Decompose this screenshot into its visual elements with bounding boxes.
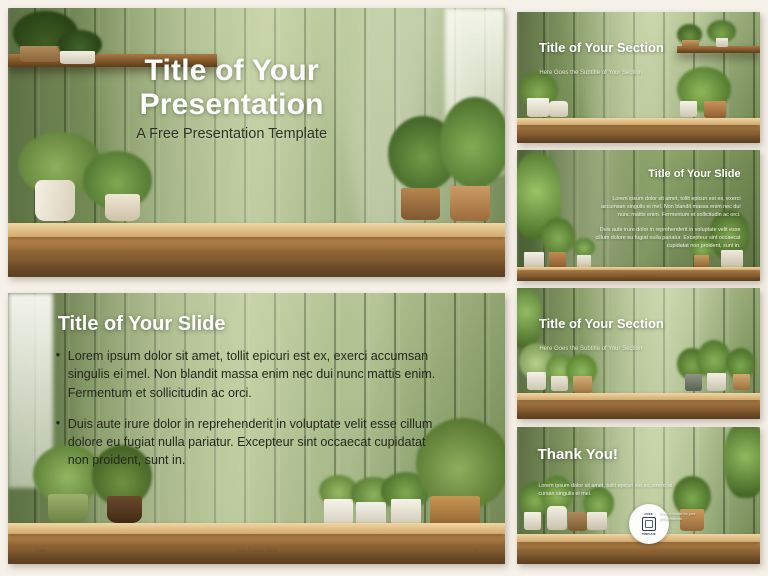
bullet-item: Duis aute irure dolor in reprehenderit i…: [56, 415, 444, 470]
plant-left-mid: [541, 218, 575, 255]
pot-right-b: [707, 373, 726, 391]
wall-shelf: [677, 46, 760, 53]
pot-center: [587, 512, 606, 530]
section-slide-top[interactable]: Title of Your Section Here Goes the Subt…: [517, 12, 760, 143]
slide-footer: Date Your Footer Here 1: [8, 548, 505, 560]
bullet-item: Lorem ipsum dolor sit amet, tollit epicu…: [590, 195, 741, 219]
thank-you-body: Lorem ipsum dolor sit amet, tollit epicu…: [538, 482, 689, 499]
pot-white-a: [324, 499, 354, 526]
pot-white-c: [391, 499, 421, 526]
footer-center-text: Your Footer Here: [517, 136, 760, 140]
footer-page-number: 1: [475, 548, 478, 554]
section-title: Title of Your Section: [539, 40, 664, 55]
presentation-subtitle: A Free Presentation Template: [117, 126, 346, 142]
section-subtitle: Here Goes the Subtitle of Your Section: [539, 70, 642, 76]
section-slide-bottom[interactable]: Title of Your Section Here Goes the Subt…: [517, 288, 760, 419]
certificate-icon: [642, 517, 656, 531]
pot-white-left: [527, 98, 549, 116]
pot-left-b: [547, 506, 566, 529]
slide-title: Title of Your Slide: [58, 313, 226, 336]
thank-you-title: Thank You!: [538, 446, 618, 463]
badge-bottom-text: TEMPLATE: [642, 533, 656, 536]
pot-jar-left: [549, 101, 568, 117]
badge-note: Free template for your presentations: [660, 512, 713, 523]
wood-counter: [8, 223, 505, 277]
pot-left-c: [573, 376, 592, 393]
slide-deck-preview: Title of Your Presentation A Free Presen…: [0, 0, 768, 576]
pot-white-striped: [60, 51, 95, 64]
pitcher-vase: [35, 180, 75, 220]
pot-white-right: [680, 101, 697, 117]
bullet-item: Lorem ipsum dolor sit amet, tollit epicu…: [56, 347, 444, 402]
title-slide[interactable]: Title of Your Presentation A Free Presen…: [8, 8, 505, 277]
presentation-title: Title of Your Presentation: [117, 54, 346, 122]
background-scene: [8, 8, 505, 277]
bullet-item: Duis aute irure dolor in reprehenderit i…: [590, 226, 741, 250]
slide-bullet-list: Lorem ipsum dolor sit amet, tollit epicu…: [56, 347, 444, 483]
plant-fern-far-right: [440, 97, 505, 188]
pot-wood-right: [401, 188, 441, 220]
pot-shelf-a: [682, 40, 699, 48]
section-subtitle: Here Goes the Subtitle of Your Section: [539, 346, 642, 352]
background-scene: [517, 288, 760, 419]
pot-left-b: [551, 376, 568, 392]
pot-shelf-b: [716, 38, 728, 47]
pot-green: [48, 494, 88, 524]
template-badge[interactable]: FREE TEMPLATE: [629, 504, 669, 544]
pot-beige-small: [105, 194, 140, 221]
pot-right-c: [733, 374, 750, 390]
content-slide[interactable]: Title of Your Slide Lorem ipsum dolor si…: [8, 293, 505, 564]
slide-title: Title of Your Slide: [648, 168, 740, 180]
wood-counter: [517, 393, 760, 419]
pot-tin-center: [568, 512, 587, 531]
pot-terracotta: [450, 186, 490, 221]
pot-left-mid: [549, 252, 566, 268]
mini-content-slide[interactable]: Title of Your Slide Lorem ipsum dolor si…: [517, 150, 760, 281]
pot-right-a: [685, 374, 702, 391]
pot-left-a: [527, 372, 546, 390]
badge-top-text: FREE: [645, 512, 654, 516]
footer-center-text: Your Footer Here: [517, 274, 760, 278]
pot-left-a: [524, 512, 541, 530]
slide-bullet-list: Lorem ipsum dolor sit amet, tollit epicu…: [590, 195, 741, 258]
pot-dark-brown: [107, 496, 142, 523]
plant-hanging-right: [724, 427, 760, 498]
pot-basket: [20, 46, 60, 62]
thank-you-slide[interactable]: Thank You! Lorem ipsum dolor sit amet, t…: [517, 427, 760, 564]
background-scene: [517, 12, 760, 143]
section-title: Title of Your Section: [539, 316, 664, 331]
footer-center-text: Your Footer Here: [8, 548, 505, 554]
pot-terracotta-right: [704, 101, 726, 118]
plant-hanging-left: [517, 288, 541, 348]
